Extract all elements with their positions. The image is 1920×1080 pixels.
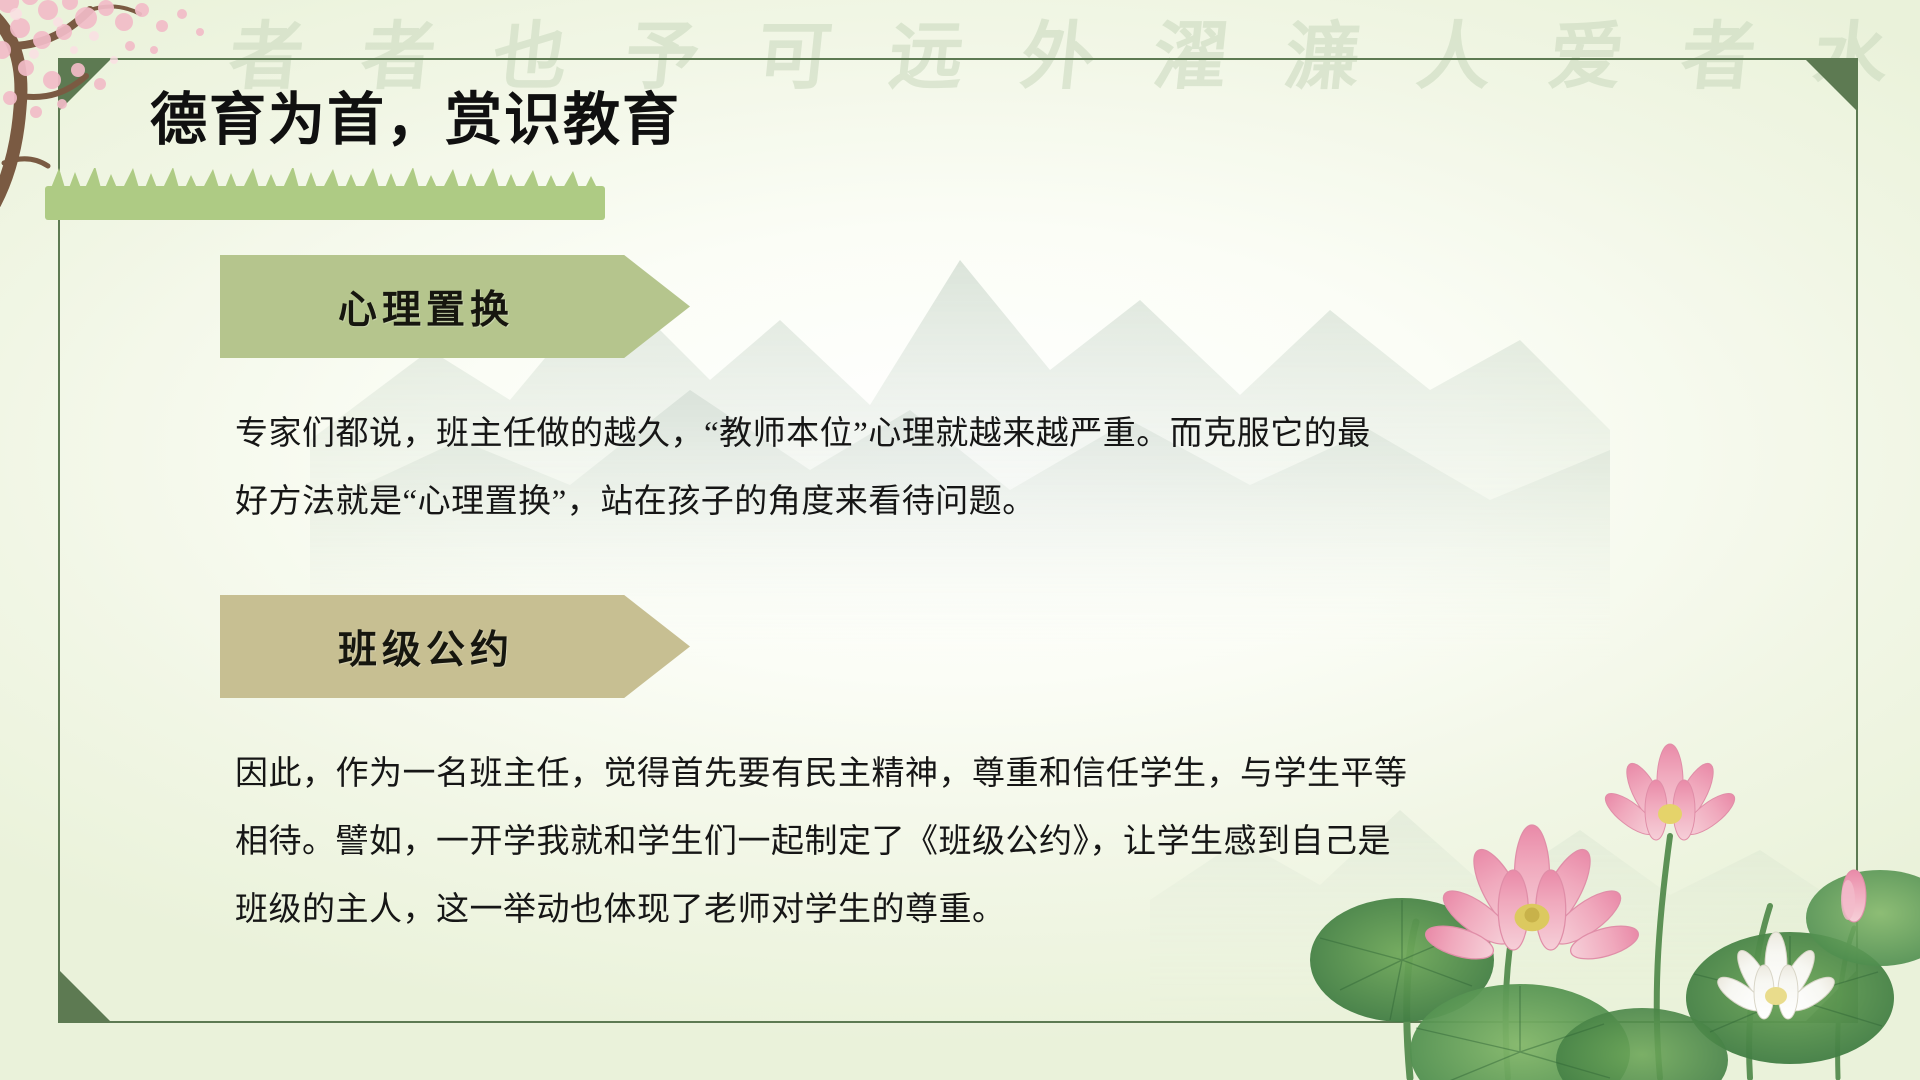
calligraphy-glyph: 者	[1676, 0, 1761, 104]
calligraphy-glyph: 远	[884, 0, 969, 104]
calligraphy-glyph: 者	[356, 0, 441, 104]
slide-canvas: 者 者 也 予 可 远 外 濯 濂 人 爱 者 水	[0, 0, 1920, 1080]
calligraphy-glyph: 人	[1412, 0, 1497, 104]
background-calligraphy: 者 者 也 予 可 远 外 濯 濂 人 爱 者 水	[0, 0, 1920, 100]
page-title: 德育为首，赏识教育	[150, 90, 1050, 153]
calligraphy-glyph: 予	[620, 0, 705, 104]
frame-corner-top-right	[1804, 58, 1858, 112]
paragraph-line: 因此，作为一名班主任，觉得首先要有民主精神，尊重和信任学生，与学生平等	[235, 740, 1630, 808]
grass-icon	[45, 168, 605, 220]
calligraphy-glyph: 濯	[1148, 0, 1233, 104]
calligraphy-glyph: 水	[1808, 0, 1893, 104]
section-paragraph-1: 专家们都说，班主任做的越久，“教师本位”心理就越来越严重。而克服它的最 好方法就…	[235, 400, 1630, 536]
section-banner-1[interactable]: 心理置换	[220, 255, 690, 358]
calligraphy-glyph: 也	[488, 0, 573, 104]
calligraphy-glyph: 濂	[1280, 0, 1365, 104]
frame-corner-top-left	[58, 58, 112, 112]
frame-corner-bottom-left	[58, 969, 112, 1023]
calligraphy-glyph: 外	[1016, 0, 1101, 104]
calligraphy-glyph: 者	[224, 0, 309, 104]
section-banner-2-label: 班级公约	[338, 619, 514, 675]
paragraph-line: 专家们都说，班主任做的越久，“教师本位”心理就越来越严重。而克服它的最	[235, 400, 1630, 468]
section-paragraph-2: 因此，作为一名班主任，觉得首先要有民主精神，尊重和信任学生，与学生平等 相待。譬…	[235, 740, 1630, 944]
frame-corner-bottom-right	[1804, 969, 1858, 1023]
section-banner-2[interactable]: 班级公约	[220, 595, 690, 698]
section-banner-1-label: 心理置换	[338, 279, 514, 335]
paragraph-line: 好方法就是“心理置换”，站在孩子的角度来看待问题。	[235, 468, 1630, 536]
calligraphy-glyph: 可	[752, 0, 837, 104]
title-block: 德育为首，赏识教育	[150, 90, 1050, 210]
paragraph-line: 相待。譬如，一开学我就和学生们一起制定了《班级公约》，让学生感到自己是	[235, 808, 1630, 876]
calligraphy-glyph: 爱	[1544, 0, 1629, 104]
paragraph-line: 班级的主人，这一举动也体现了老师对学生的尊重。	[235, 876, 1630, 944]
